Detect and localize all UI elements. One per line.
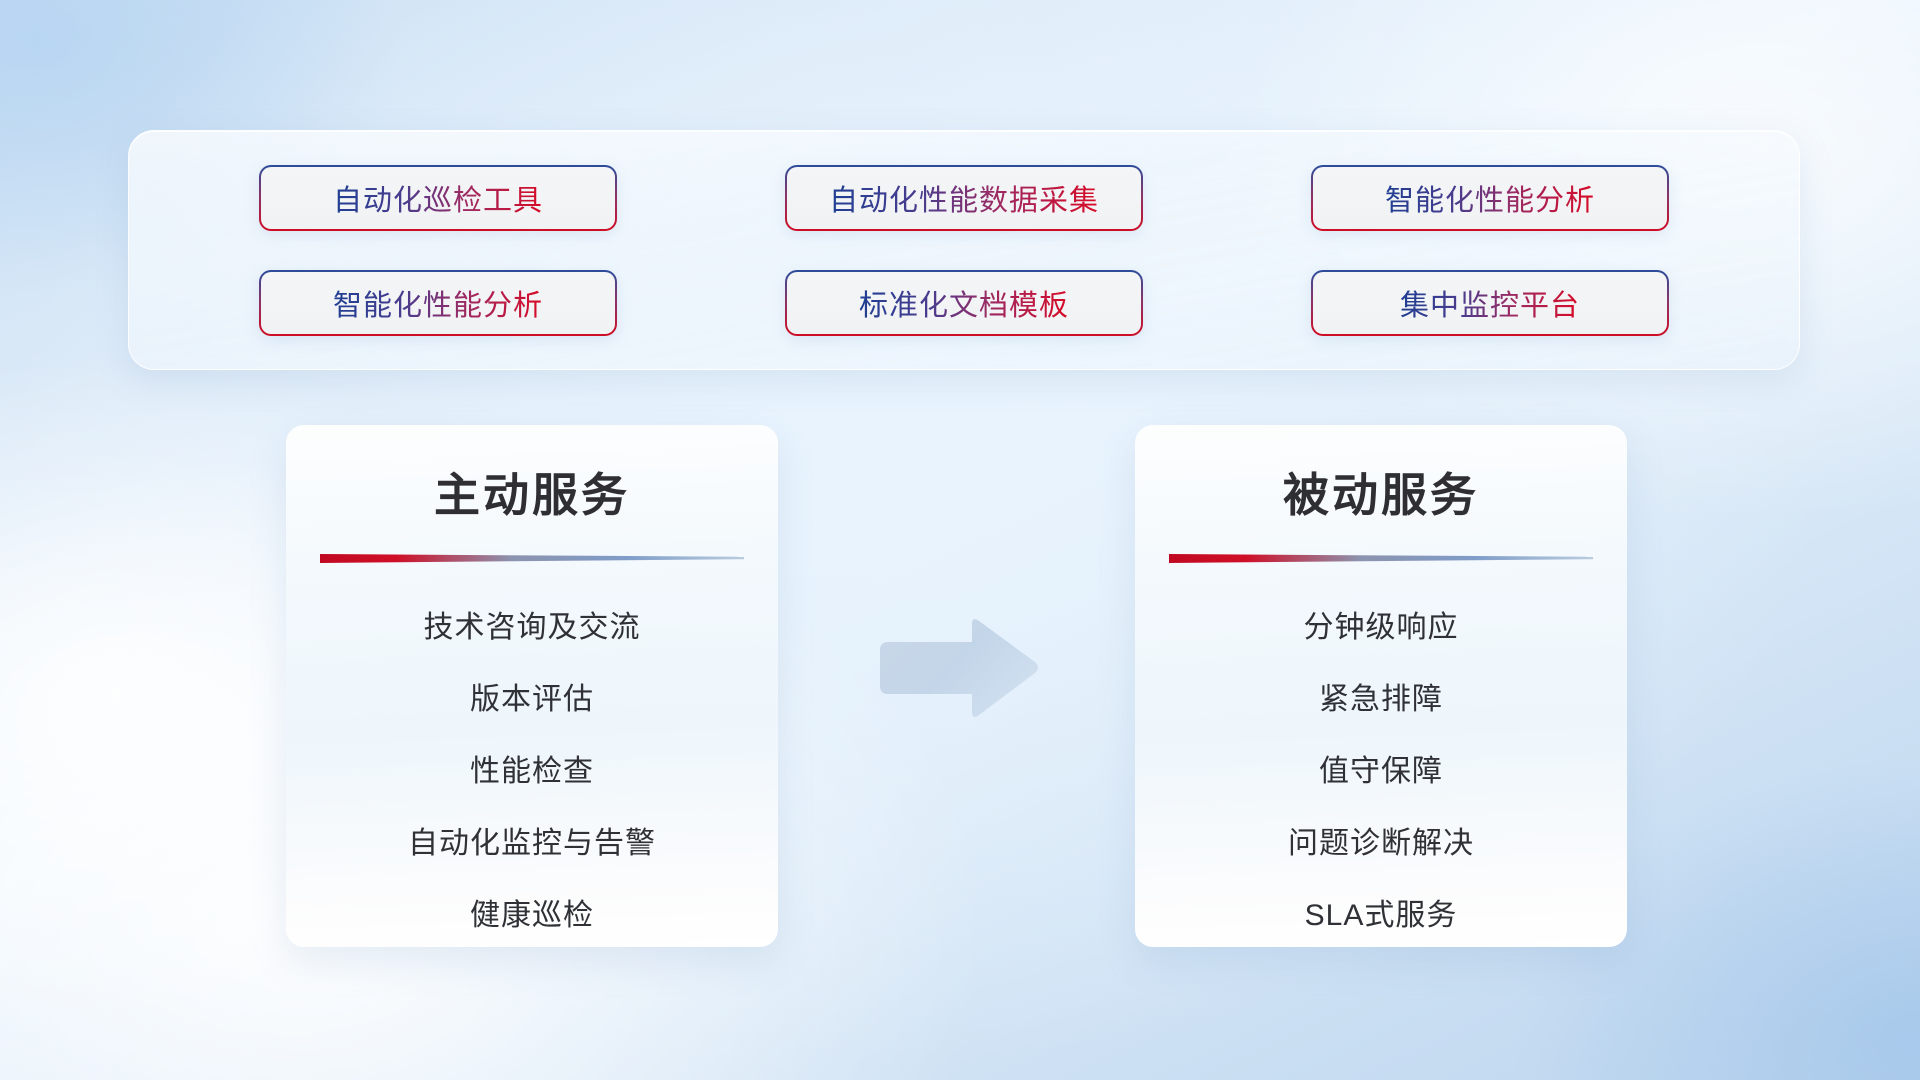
capability-tag-inner: 智能化性能分析 — [1313, 167, 1667, 229]
capability-tag-label: 智能化性能分析 — [333, 282, 543, 324]
capability-tag[interactable]: 自动化性能数据采集 — [785, 165, 1143, 231]
capability-tag[interactable]: 自动化巡检工具 — [259, 165, 617, 231]
service-list-item: 性能检查 — [286, 736, 778, 808]
capability-tag[interactable]: 集中监控平台 — [1311, 270, 1669, 336]
slide-canvas: 自动化巡检工具 自动化性能数据采集 智能化性能分析 智能化性能分析 — [0, 0, 1920, 1080]
capability-tags-panel: 自动化巡检工具 自动化性能数据采集 智能化性能分析 智能化性能分析 — [128, 130, 1800, 370]
service-list-item: 自动化监控与告警 — [286, 808, 778, 880]
service-list-item: 健康巡检 — [286, 880, 778, 952]
capability-tag-inner: 标准化文档模板 — [787, 272, 1141, 334]
capability-tag-label: 标准化文档模板 — [859, 282, 1069, 324]
service-list-item: 技术咨询及交流 — [286, 592, 778, 664]
capability-tag-label: 智能化性能分析 — [1385, 177, 1595, 219]
service-list-item: 问题诊断解决 — [1135, 808, 1627, 880]
capability-tag-inner: 自动化性能数据采集 — [787, 167, 1141, 229]
capability-tag[interactable]: 智能化性能分析 — [1311, 165, 1669, 231]
service-list-item: 紧急排障 — [1135, 664, 1627, 736]
service-list-item: 分钟级响应 — [1135, 592, 1627, 664]
service-list-item: SLA式服务 — [1135, 880, 1627, 952]
capability-tag-label: 集中监控平台 — [1400, 282, 1580, 324]
title-divider — [1169, 551, 1593, 564]
service-card-title: 被动服务 — [1135, 459, 1627, 525]
capability-tag-inner: 智能化性能分析 — [261, 272, 615, 334]
title-divider — [320, 551, 744, 564]
capability-tag-label: 自动化性能数据采集 — [829, 177, 1099, 219]
service-list-item: 版本评估 — [286, 664, 778, 736]
service-card-title: 主动服务 — [286, 459, 778, 525]
service-card-proactive[interactable]: 主动服务 技术咨询及交流 版本评估 性能检查 自动化监控与告警 — [286, 425, 778, 947]
capability-tag-label: 自动化巡检工具 — [333, 177, 543, 219]
capability-tag-inner: 自动化巡检工具 — [261, 167, 615, 229]
capability-tag[interactable]: 标准化文档模板 — [785, 270, 1143, 336]
capability-tag-inner: 集中监控平台 — [1313, 272, 1667, 334]
service-list-item: 值守保障 — [1135, 736, 1627, 808]
right-arrow-icon — [872, 614, 1040, 724]
service-card-list: 技术咨询及交流 版本评估 性能检查 自动化监控与告警 健康巡检 — [286, 592, 778, 952]
service-card-list: 分钟级响应 紧急排障 值守保障 问题诊断解决 SLA式服务 — [1135, 592, 1627, 952]
capability-tags-grid: 自动化巡检工具 自动化性能数据采集 智能化性能分析 智能化性能分析 — [129, 131, 1799, 369]
capability-tag[interactable]: 智能化性能分析 — [259, 270, 617, 336]
service-card-reactive[interactable]: 被动服务 分钟级响应 紧急排障 值守保障 问题诊断解决 — [1135, 425, 1627, 947]
